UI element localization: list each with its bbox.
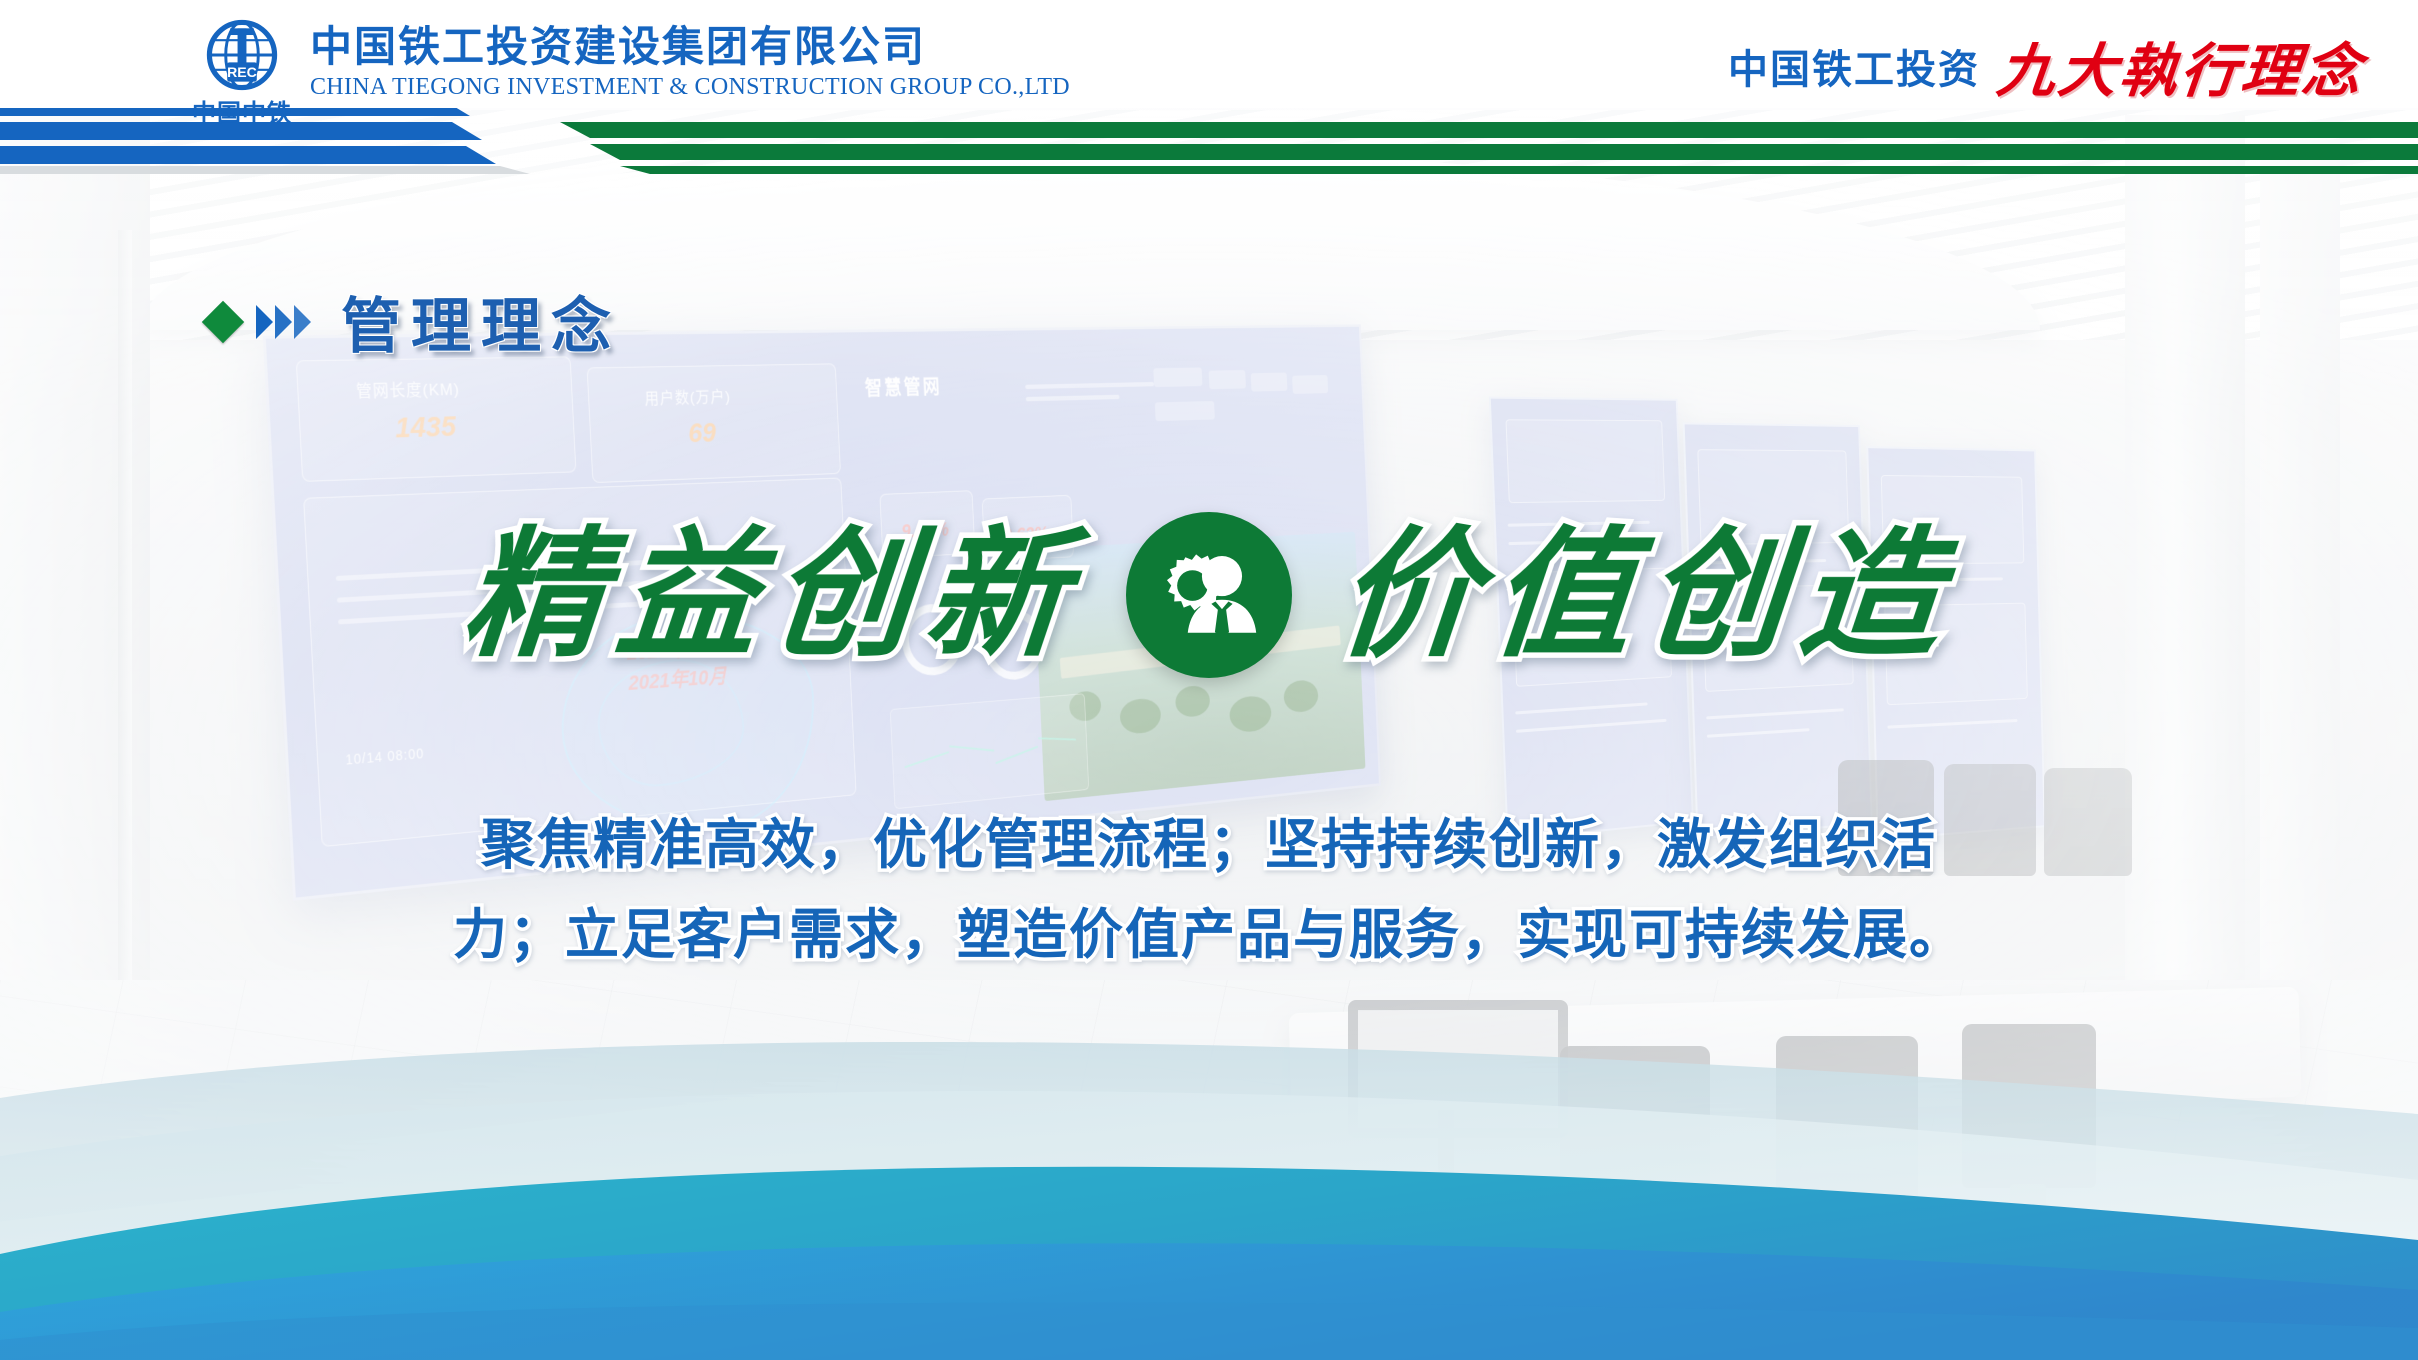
slogan-right: 价值创造 xyxy=(1332,525,1960,665)
wave-shapes xyxy=(0,1040,2418,1360)
header-campaign-title: 中国铁工投资 九大執行理念 xyxy=(1728,24,2364,108)
description-line-2: 力；立足客户需求，塑造价值产品与服务，实现可持续发展。 xyxy=(0,890,2418,980)
company-logo: REC 中国中铁 中国铁工投资建设集团有限公司 CHINA TIEGONG IN… xyxy=(190,18,1070,128)
gear-person-badge xyxy=(1126,512,1292,678)
triple-chevron-icon xyxy=(256,305,311,339)
section-title-text: 管理理念 xyxy=(341,278,621,365)
bottom-wave-decoration xyxy=(0,1040,2418,1360)
description-line-1: 聚焦精准高效，优化管理流程；坚持持续创新，激发组织活 xyxy=(0,800,2418,890)
svg-text:REC: REC xyxy=(227,64,257,80)
slogan-left: 精益创新 xyxy=(458,525,1086,665)
logo-company-short: 中国中铁 xyxy=(192,93,292,128)
green-diamond-icon xyxy=(202,300,244,342)
hero-slogans: 精益创新 价值创造 xyxy=(0,470,2418,720)
company-name-cn: 中国铁工投资建设集团有限公司 xyxy=(310,22,1070,72)
campaign-prefix: 中国铁工投资 xyxy=(1728,37,1980,95)
slide-root: 管网长度(KM) 1435 用户数(万户) 69 智慧管网 2021年1月 20 xyxy=(0,0,2418,1360)
section-heading: 管理理念 xyxy=(208,278,621,365)
gear-person-icon xyxy=(1150,536,1268,654)
campaign-title: 九大執行理念 xyxy=(1994,24,2369,108)
company-name-en: CHINA TIEGONG INVESTMENT & CONSTRUCTION … xyxy=(310,72,1070,102)
crec-globe-logo-icon: REC xyxy=(205,18,279,92)
logo-emblem: REC 中国中铁 xyxy=(190,18,294,128)
description-block: 聚焦精准高效，优化管理流程；坚持持续创新，激发组织活 力；立足客户需求，塑造价值… xyxy=(0,800,2418,980)
page-header: REC 中国中铁 中国铁工投资建设集团有限公司 CHINA TIEGONG IN… xyxy=(0,0,2418,108)
logo-wordmark: 中国铁工投资建设集团有限公司 CHINA TIEGONG INVESTMENT … xyxy=(310,18,1070,102)
